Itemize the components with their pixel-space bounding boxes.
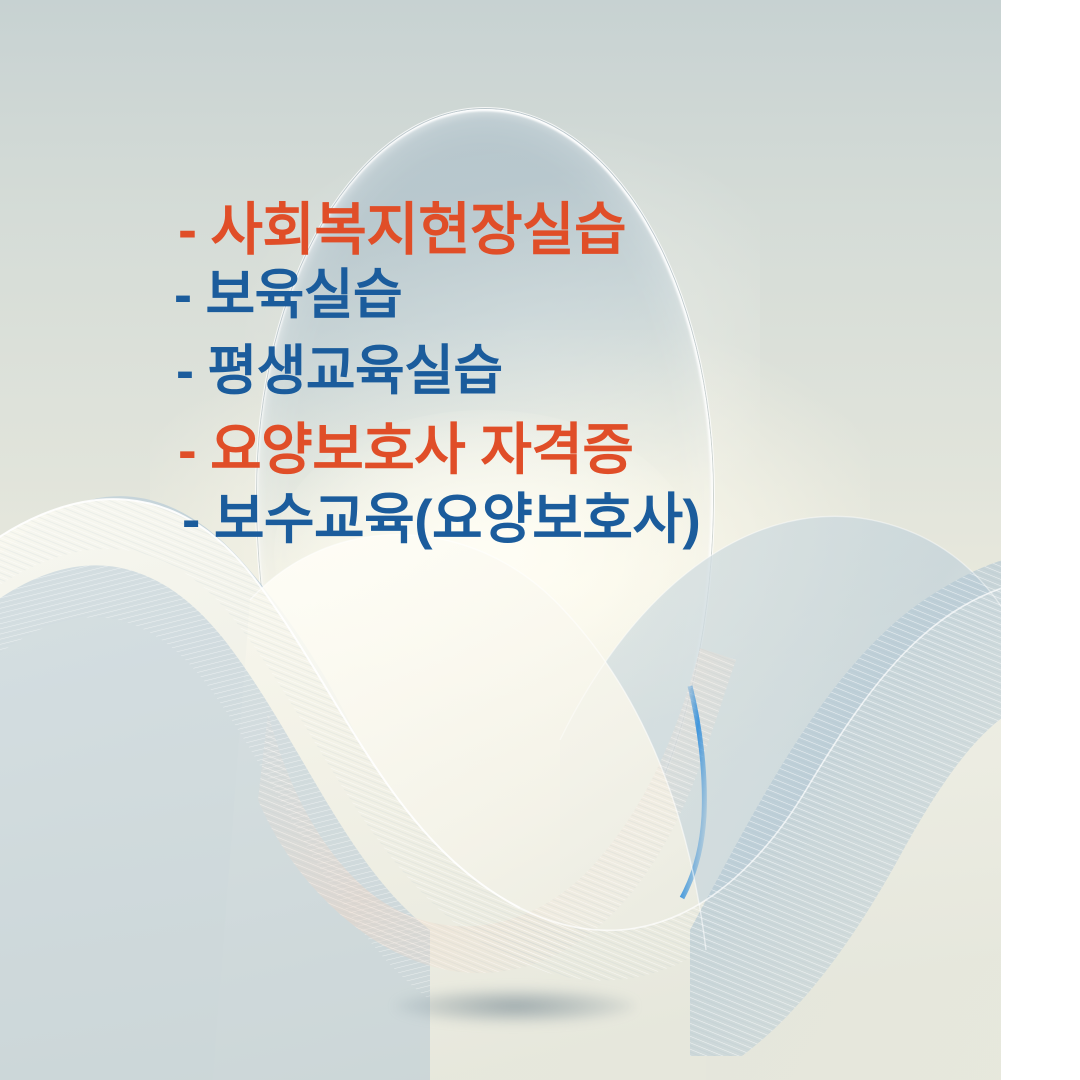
- course-item-2: -평생교육실습: [176, 344, 503, 398]
- bullet-dash-3: -: [178, 422, 196, 478]
- course-label-0: 사회복지현장실습: [210, 198, 626, 262]
- course-label-3: 요양보호사 자격증: [210, 418, 633, 481]
- bullet-dash-1: -: [174, 268, 191, 322]
- poster-canvas: -사회복지현장실습 -보육실습 -평생교육실습 -요양보호사 자격증 -보수교육…: [0, 0, 1080, 1080]
- course-label-2: 평생교육실습: [207, 341, 502, 401]
- bullet-dash-4: -: [182, 492, 200, 547]
- course-item-0: -사회복지현장실습: [178, 202, 626, 259]
- course-item-1: -보육실습: [174, 268, 402, 322]
- bullet-dash-2: -: [176, 344, 193, 398]
- bullet-dash-0: -: [178, 202, 196, 259]
- course-label-4: 보수교육(요양보호사): [214, 488, 701, 550]
- course-item-3: -요양보호사 자격증: [178, 422, 633, 478]
- background-artwork: -사회복지현장실습 -보육실습 -평생교육실습 -요양보호사 자격증 -보수교육…: [0, 0, 1001, 1080]
- course-label-1: 보육실습: [205, 265, 402, 325]
- course-item-4: -보수교육(요양보호사): [182, 492, 700, 547]
- course-list: -사회복지현장실습 -보육실습 -평생교육실습 -요양보호사 자격증 -보수교육…: [0, 0, 1001, 1080]
- right-white-margin: [1001, 0, 1080, 1080]
